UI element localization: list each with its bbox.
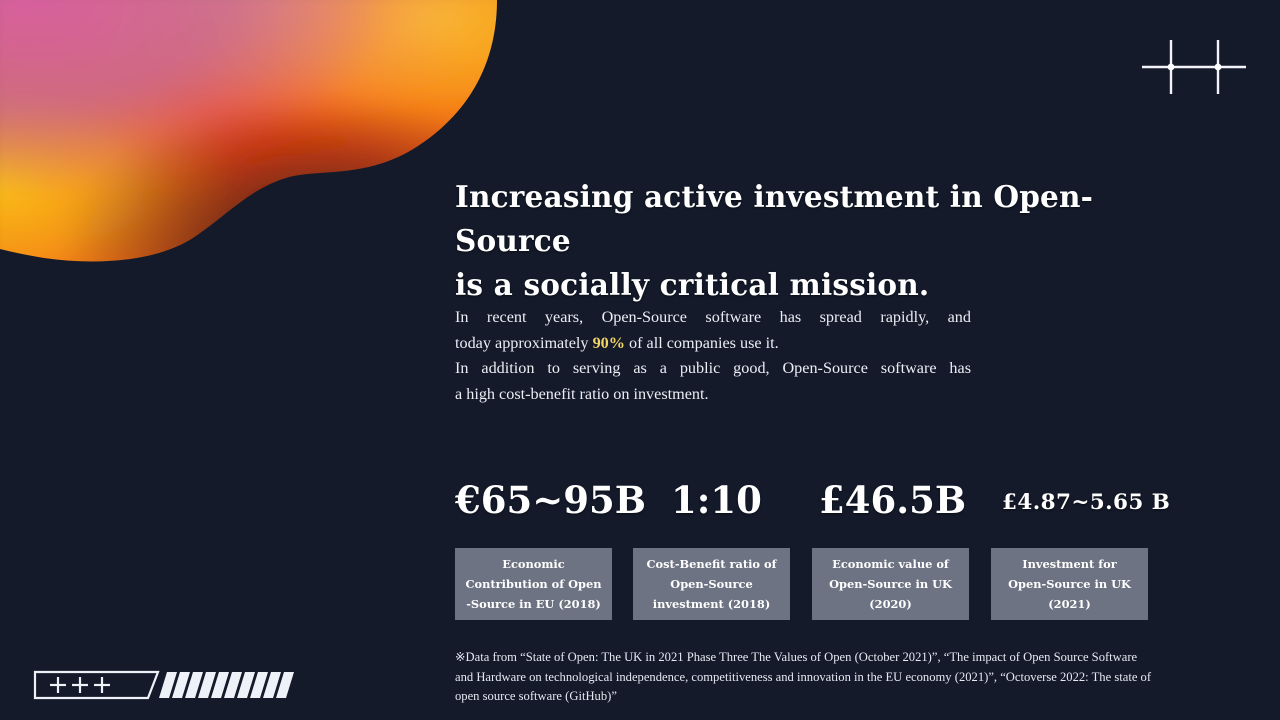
- stat-values: €65~95B 1:10 £46.5B £4.87~5.65 B: [455, 478, 1149, 526]
- stat-value-eu-contribution: €65~95B: [455, 478, 646, 522]
- stat-label-text-uk-economic-value: Economic value of Open-Source in UK (202…: [829, 554, 952, 614]
- stat-label-box-uk-economic-value: Economic value of Open-Source in UK (202…: [812, 548, 969, 620]
- stat-label-cb-l3: investment (2018): [653, 597, 770, 611]
- stat-value-uk-economic-value: £46.5B: [819, 478, 966, 522]
- stat-label-ukv-l3: (2020): [869, 597, 911, 611]
- slide-content: Increasing active investment in Open-Sou…: [455, 0, 1171, 720]
- stat-label-box-eu-contribution: Economic Contribution of Open -Source in…: [455, 548, 612, 620]
- crosshair-node-2: [1215, 64, 1222, 71]
- stat-label-text-uk-investment: Investment for Open-Source in UK (2021): [1008, 554, 1131, 614]
- body-line-4: a high cost-benefit ratio on investment.: [455, 382, 971, 408]
- body-line-2: today approximately 90% of all companies…: [455, 331, 971, 357]
- stat-label-uki-l1: Investment for: [1022, 557, 1116, 571]
- page-title-line-2: is a socially critical mission.: [455, 267, 929, 302]
- stat-accent-percent: 90%: [593, 334, 625, 352]
- data-source-footnote: ※Data from “State of Open: The UK in 202…: [455, 648, 1155, 707]
- footer-badge-decoration: [30, 668, 298, 702]
- stat-label-box-uk-investment: Investment for Open-Source in UK (2021): [991, 548, 1148, 620]
- stat-label-ukv-l1: Economic value of: [832, 557, 949, 571]
- footnote-line-1: ※Data from “State of Open: The UK in 202…: [455, 650, 1020, 664]
- stat-label-cb-l2: Open-Source: [670, 577, 752, 591]
- page-title: Increasing active investment in Open-Sou…: [455, 175, 1185, 307]
- page-title-line-1: Increasing active investment in Open-Sou…: [455, 179, 1093, 258]
- stat-label-uki-l3: (2021): [1048, 597, 1090, 611]
- footer-stripes: [159, 672, 294, 698]
- stats-row: €65~95B 1:10 £46.5B £4.87~5.65 B: [455, 478, 1149, 526]
- stat-label-ukv-l2: Open-Source in UK: [829, 577, 952, 591]
- stat-label-text-cost-benefit-ratio: Cost-Benefit ratio of Open-Source invest…: [646, 554, 776, 614]
- body-line-1: In recent years, Open-Source software ha…: [455, 305, 971, 331]
- stat-label-boxes: Economic Contribution of Open -Source in…: [455, 548, 1149, 620]
- badge-plus-icons: [50, 677, 110, 693]
- stat-label-eu-l2: Contribution of Open: [465, 577, 601, 591]
- stat-value-uk-investment: £4.87~5.65 B: [1002, 478, 1170, 528]
- stat-value-cost-benefit-ratio: 1:10: [671, 478, 762, 522]
- stat-label-box-cost-benefit-ratio: Cost-Benefit ratio of Open-Source invest…: [633, 548, 790, 620]
- stat-label-cb-l1: Cost-Benefit ratio of: [646, 557, 776, 571]
- body-line-2-pre: today approximately: [455, 334, 593, 352]
- stat-label-eu-l3: -Source in EU (2018): [466, 597, 601, 611]
- gradient-blob-svg: [0, 0, 520, 270]
- body-copy: In recent years, Open-Source software ha…: [455, 305, 971, 407]
- gradient-blob-decoration: [0, 0, 520, 270]
- body-line-3: In addition to serving as a public good,…: [455, 356, 971, 382]
- stat-label-eu-l1: Economic: [502, 557, 564, 571]
- body-line-2-post: of all companies use it.: [625, 334, 779, 352]
- stat-label-uki-l2: Open-Source in UK: [1008, 577, 1131, 591]
- stat-label-text-eu-contribution: Economic Contribution of Open -Source in…: [465, 554, 601, 614]
